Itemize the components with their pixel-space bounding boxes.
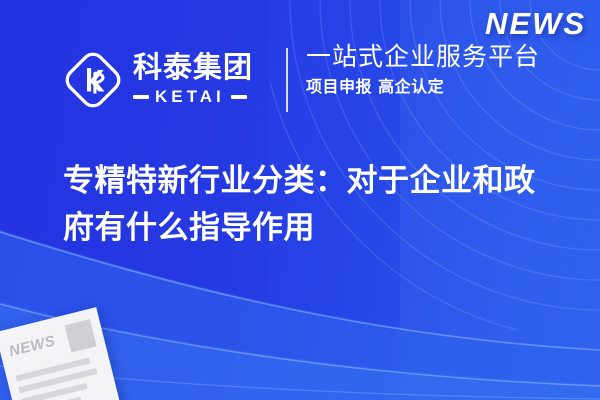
- page-title: 专精特新行业分类：对于企业和政府有什么指导作用: [63, 157, 563, 251]
- brand-logo[interactable]: 科泰集团 KETAI: [62, 38, 253, 122]
- slogan-block: 一站式企业服务平台 项目申报 高企认定: [306, 42, 586, 97]
- news-wordmark: NEWS: [485, 6, 586, 42]
- brand-rule-left: [133, 95, 149, 99]
- banner-header: 科泰集团 KETAI 一站式企业服务平台 项目申报 高企认定: [0, 38, 600, 122]
- slogan-sub: 项目申报 高企认定: [306, 77, 586, 98]
- ketai-diamond-logo-icon: [62, 49, 124, 111]
- brand-name-cn: 科泰集团: [133, 53, 253, 83]
- brand-rule-right: [231, 95, 247, 99]
- brand-name-en-row: KETAI: [133, 87, 253, 107]
- newspaper-icon-title: NEWS: [7, 332, 57, 360]
- header-divider: [286, 48, 288, 112]
- newspaper-thumbnail-icon: [65, 319, 97, 352]
- brand-name-en: KETAI: [155, 87, 225, 107]
- news-banner: 科泰集团 KETAI 一站式企业服务平台 项目申报 高企认定 NEWS 专精特新…: [0, 0, 600, 400]
- slogan-main: 一站式企业服务平台: [306, 42, 586, 73]
